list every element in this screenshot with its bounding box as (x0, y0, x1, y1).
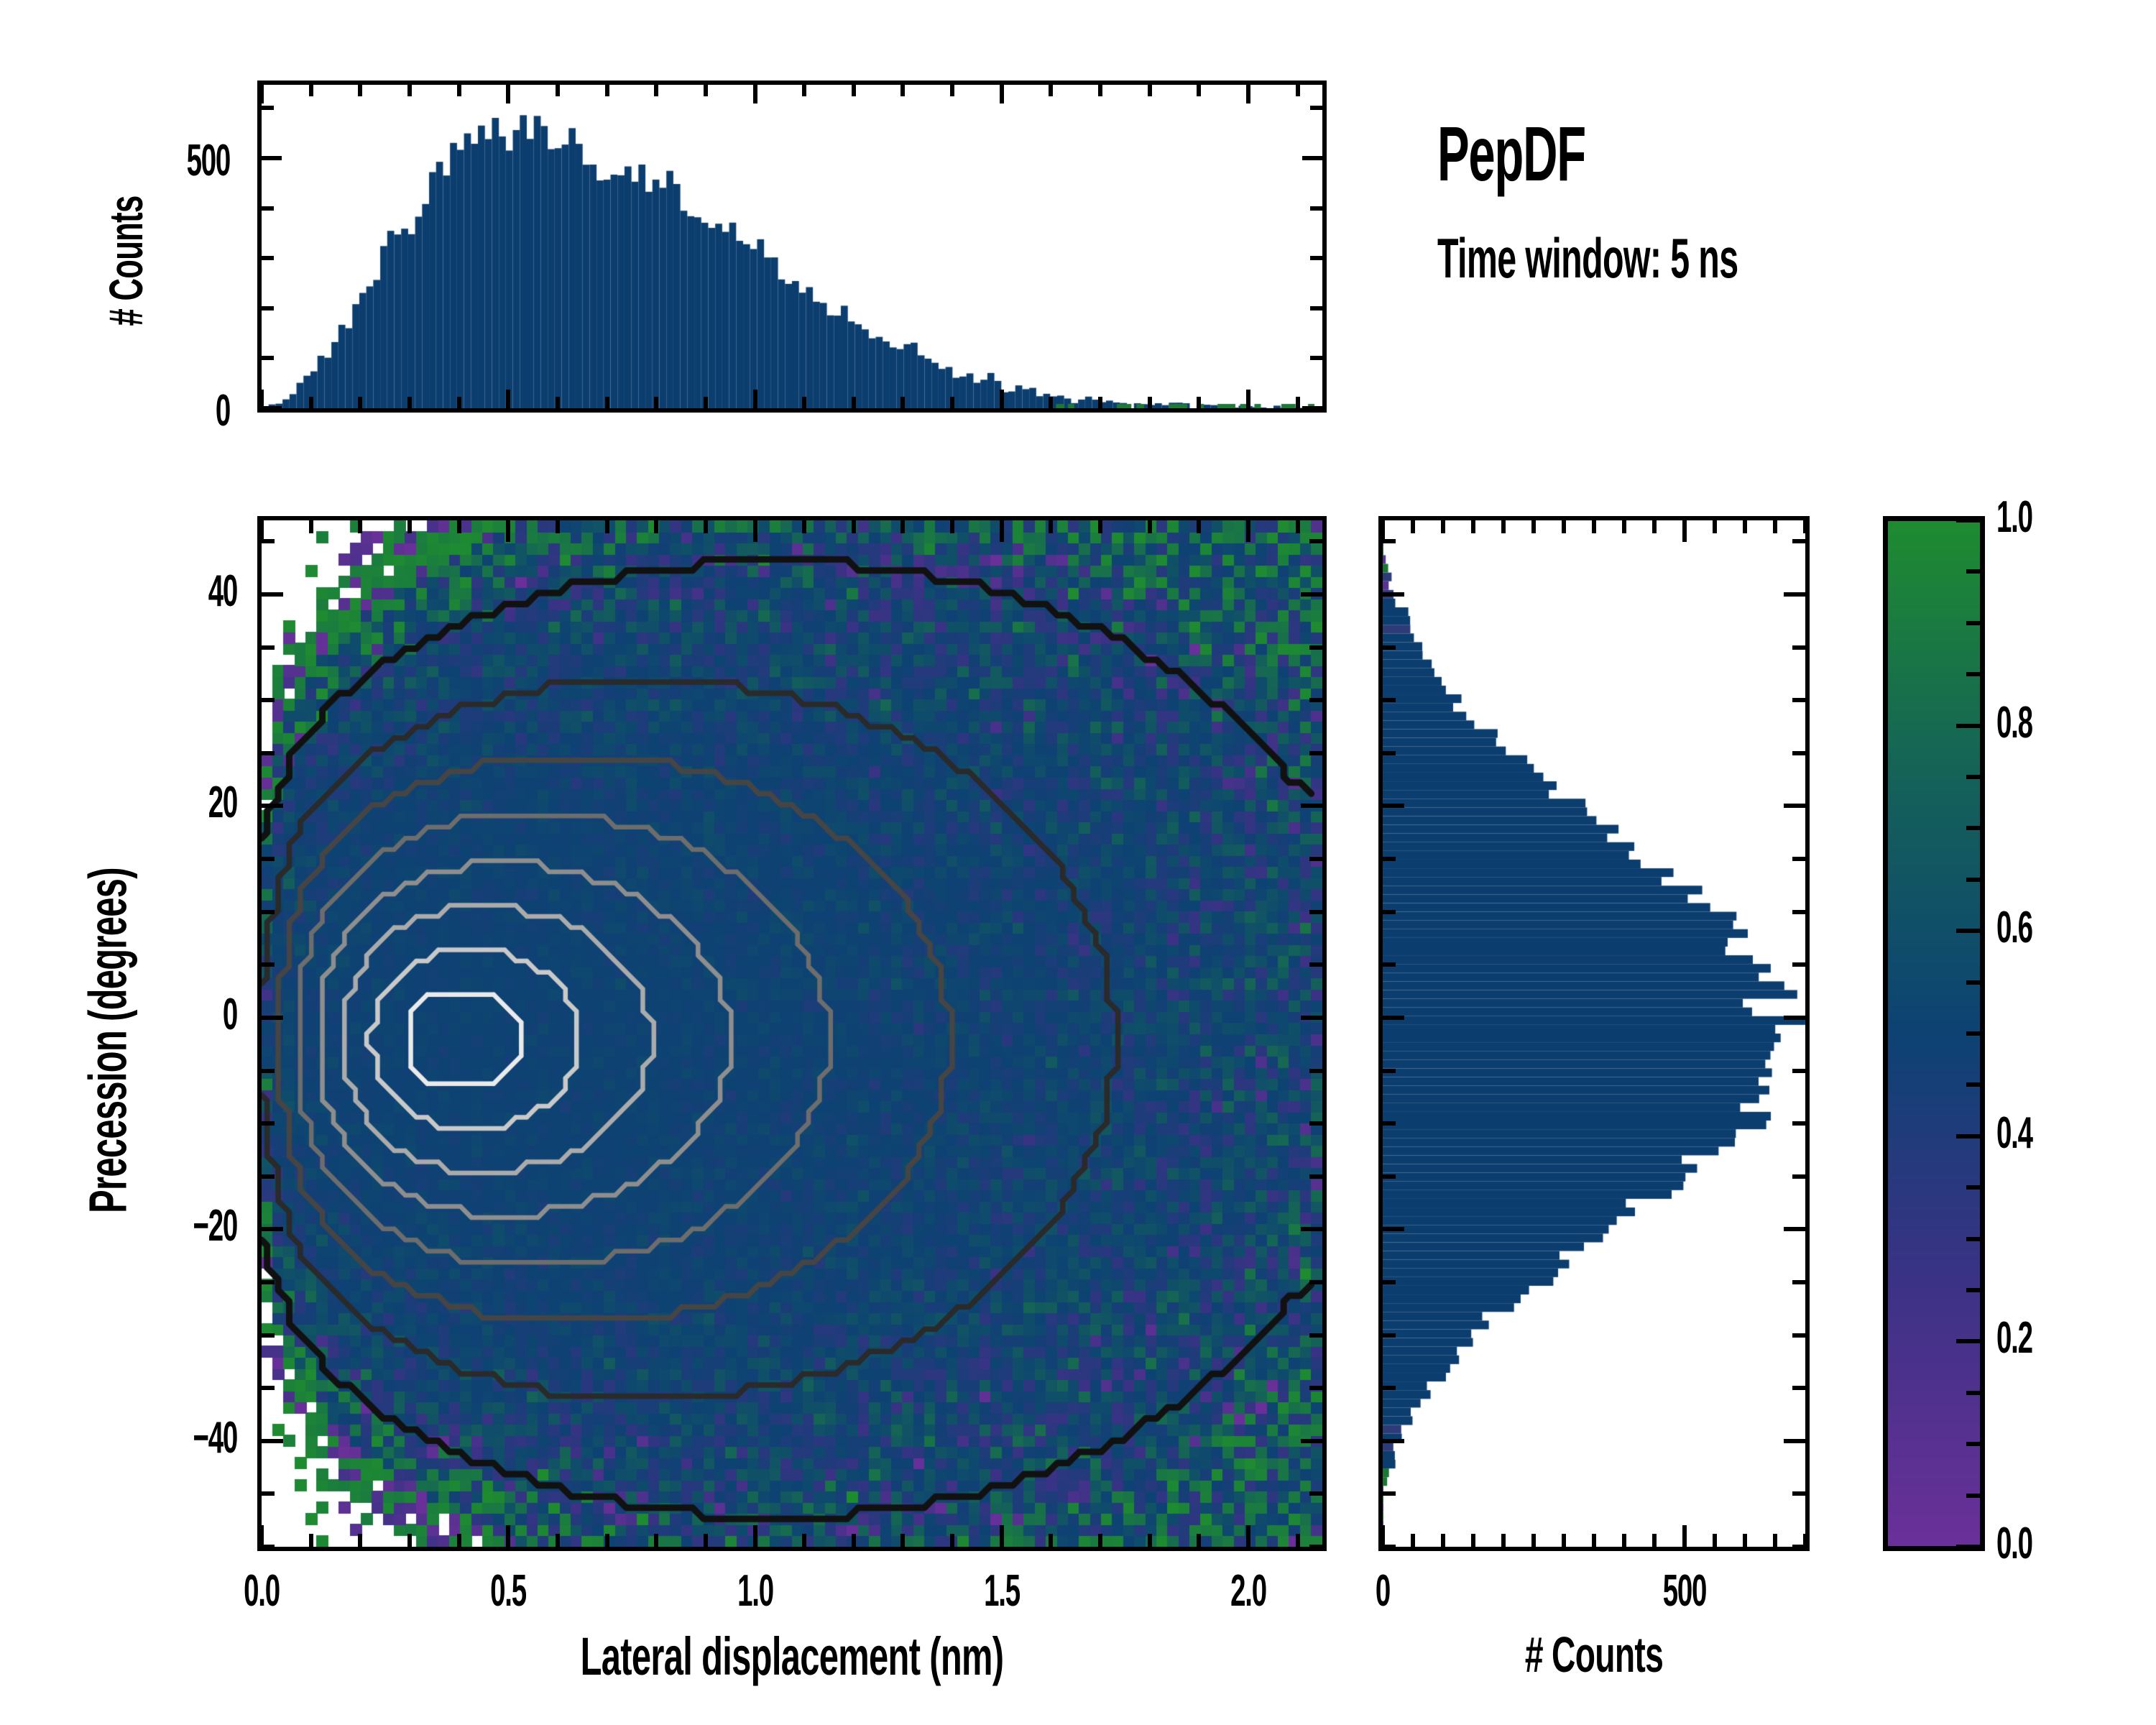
main-xtick (407, 520, 412, 533)
main-xtick (1000, 1525, 1004, 1547)
main-ytick (1309, 698, 1322, 702)
main-xtick (457, 1534, 461, 1547)
top-hist-xtick (1148, 85, 1152, 96)
main-ylabel: Precession (degrees) (78, 699, 139, 1381)
right-hist-ytick (1383, 1016, 1404, 1020)
main-xtick (704, 520, 708, 533)
main-xtick (753, 1525, 757, 1547)
right-hist-ytick (1383, 1491, 1396, 1496)
top-hist-ytick (1310, 356, 1322, 360)
main-ytick-label: 40 (90, 566, 237, 617)
right-histogram-plot (1383, 520, 1805, 1547)
top-hist-xtick (1197, 397, 1201, 408)
main-xtick (654, 1534, 658, 1547)
main-xtick (1296, 520, 1300, 533)
right-hist-ytick (1784, 804, 1805, 808)
top-hist-xtick (457, 85, 461, 96)
top-hist-ytick (262, 356, 274, 360)
right-hist-ytick (1792, 910, 1805, 914)
main-xtick-label: 1.0 (711, 1565, 800, 1616)
top-hist-xtick (556, 397, 560, 408)
top-hist-xtick (900, 85, 905, 96)
top-hist-xtick (506, 390, 510, 408)
main-ytick (262, 592, 283, 597)
top-hist-ytick (262, 156, 282, 160)
main-ytick (1301, 592, 1322, 597)
main-xtick (1098, 1534, 1102, 1547)
right-hist-ytick (1383, 1174, 1396, 1179)
right-hist-xtick (1441, 520, 1445, 533)
top-hist-xtick (1148, 397, 1152, 408)
colorbar-tick-label: 0.8 (1996, 697, 2104, 748)
right-hist-xtick (1501, 520, 1506, 533)
main-xtick-label: 0.5 (464, 1565, 553, 1616)
colorbar-tick (1966, 775, 1981, 779)
main-xtick (900, 520, 905, 533)
main-xtick (900, 1534, 905, 1547)
main-xtick-label: 2.0 (1204, 1565, 1293, 1616)
right-hist-xtick (1743, 520, 1747, 533)
top-hist-xtick (654, 85, 658, 96)
main-xtick (309, 520, 313, 533)
right-hist-ytick (1383, 645, 1396, 650)
top-hist-xtick (704, 85, 708, 96)
right-hist-ytick (1383, 1545, 1396, 1549)
main-xtick (1197, 1534, 1201, 1547)
colorbar-tick (1966, 878, 1981, 882)
right-hist-ytick (1383, 910, 1396, 914)
right-hist-xtick (1773, 520, 1777, 533)
colorbar-tick (1956, 724, 1981, 728)
main-xtick (1000, 520, 1004, 542)
colorbar-tick (1966, 980, 1981, 985)
top-hist-xtick (1197, 85, 1201, 96)
main-xtick (950, 1534, 954, 1547)
right-hist-ytick (1792, 645, 1805, 650)
right-hist-ytick (1792, 698, 1805, 702)
main-ytick (1309, 1121, 1322, 1126)
main-ytick (1301, 1439, 1322, 1443)
colorbar-tick (1966, 672, 1981, 676)
right-hist-ytick (1383, 1439, 1404, 1443)
main-xtick-label: 1.5 (957, 1565, 1046, 1616)
right-hist-xtick (1652, 520, 1657, 533)
right-hist-ytick (1383, 1227, 1404, 1231)
main-ytick (1309, 1333, 1322, 1338)
colorbar-tick (1966, 569, 1981, 574)
colorbar-tick-label: 1.0 (1996, 492, 2104, 543)
top-hist-xtick (1049, 85, 1053, 96)
main-ytick (262, 1069, 275, 1073)
main-ytick (262, 804, 283, 808)
right-hist-xtick (1471, 1534, 1475, 1547)
colorbar-tick (1956, 518, 1981, 523)
main-ytick (262, 1545, 275, 1549)
colorbar-tick (1966, 1185, 1981, 1190)
colorbar-tick (1956, 1545, 1981, 1549)
right-hist-ytick (1792, 1280, 1805, 1284)
main-ytick (1301, 1227, 1322, 1231)
top-hist-xtick (1246, 85, 1250, 103)
main-ytick (1309, 539, 1322, 543)
right-hist-ytick (1792, 857, 1805, 861)
main-xtick-label: 0.0 (217, 1565, 306, 1616)
right-hist-xtick (1441, 1534, 1445, 1547)
right-hist-xtick (1531, 1534, 1536, 1547)
right-hist-xtick (1471, 520, 1475, 533)
main-xtick (309, 1534, 313, 1547)
main-xtick (1148, 1534, 1152, 1547)
main-ytick (262, 539, 275, 543)
top-hist-xtick (802, 397, 806, 408)
main-xlabel: Lateral displacement (nm) (439, 1626, 1145, 1687)
top-hist-ytick (1310, 256, 1322, 260)
right-hist-xtick (1411, 520, 1415, 533)
top-hist-xtick (1098, 397, 1102, 408)
colorbar-tick (1966, 1288, 1981, 1292)
main-ytick (262, 1491, 275, 1496)
main-xtick (1197, 520, 1201, 533)
main-ytick (1301, 1016, 1322, 1020)
top-hist-ytick (1302, 156, 1322, 160)
right-hist-ytick (1792, 1174, 1805, 1179)
right-hist-ytick (1784, 1439, 1805, 1443)
right-hist-ytick (1792, 1545, 1805, 1549)
main-ytick (262, 645, 275, 650)
main-xtick (1246, 1525, 1250, 1547)
top-hist-ytick-0: 0 (194, 385, 230, 436)
main-xtick (654, 520, 658, 533)
right-hist-xtick (1622, 1534, 1626, 1547)
main-xtick (358, 520, 362, 533)
right-hist-ytick (1792, 1333, 1805, 1338)
main-xtick (605, 520, 609, 533)
right-hist-ytick (1383, 751, 1396, 755)
top-hist-ytick (1302, 406, 1322, 410)
top-hist-ytick (1310, 306, 1322, 310)
right-hist-ytick (1383, 857, 1396, 861)
main-ytick (1301, 804, 1322, 808)
colorbar-tick-label: 0.4 (1996, 1108, 2104, 1159)
main-xtick (259, 1525, 264, 1547)
main-ytick (1309, 857, 1322, 861)
right-hist-xtick (1592, 520, 1596, 533)
main-ytick (262, 1227, 283, 1231)
main-ytick (1309, 1069, 1322, 1073)
top-hist-xtick (802, 85, 806, 96)
right-hist-xtick (1713, 1534, 1717, 1547)
right-hist-ytick (1792, 1069, 1805, 1073)
right-hist-xtick-label: 500 (1640, 1565, 1729, 1616)
right-hist-xtick (1803, 520, 1807, 533)
main-xtick (852, 520, 856, 533)
right-hist-ytick (1383, 804, 1404, 808)
top-hist-xtick (654, 397, 658, 408)
top-hist-xtick (704, 397, 708, 408)
colorbar-tick-label: 0.2 (1996, 1312, 2104, 1363)
right-hist-xtick (1592, 1534, 1596, 1547)
main-ytick (262, 1439, 283, 1443)
main-xtick (704, 1534, 708, 1547)
top-hist-xtick (309, 85, 313, 96)
colorbar-tick (1956, 1134, 1981, 1138)
main-ytick (262, 1121, 275, 1126)
top-hist-xtick (358, 85, 362, 96)
colorbar-tick (1966, 1442, 1981, 1446)
colorbar-tick (1966, 1391, 1981, 1395)
right-hist-ytick (1383, 1386, 1396, 1390)
right-hist-xtick (1622, 520, 1626, 533)
top-hist-xtick (1296, 85, 1300, 96)
colorbar-tick-label: 0.6 (1996, 902, 2104, 953)
main-xtick (1246, 520, 1250, 542)
top-hist-xtick (950, 397, 954, 408)
right-hist-xtick (1652, 1534, 1657, 1547)
main-xtick (1049, 520, 1053, 533)
main-xtick (852, 1534, 856, 1547)
right-hist-ytick (1784, 1227, 1805, 1231)
top-hist-xtick (1246, 390, 1250, 408)
top-hist-xtick (1049, 397, 1053, 408)
right-hist-ytick (1792, 962, 1805, 967)
main-xtick (556, 1534, 560, 1547)
top-hist-xtick (1098, 85, 1102, 96)
heatmap-canvas (262, 520, 1322, 1547)
page-title: PepDF (1437, 115, 1738, 193)
main-ytick (262, 962, 275, 967)
right-hist-xtick (1531, 520, 1536, 533)
top-hist-xtick (309, 397, 313, 408)
right-hist-ytick (1383, 1069, 1396, 1073)
main-ytick-label: −40 (90, 1412, 237, 1463)
right-hist-ytick (1792, 1386, 1805, 1390)
main-ytick (1309, 1491, 1322, 1496)
main-ytick (262, 910, 275, 914)
right-hist-xtick (1682, 1525, 1687, 1547)
top-hist-xtick (407, 397, 412, 408)
right-hist-xtick (1381, 1525, 1385, 1547)
top-hist-xtick (407, 85, 412, 96)
main-xtick (950, 520, 954, 533)
top-hist-ytick (262, 406, 282, 410)
top-hist-xtick (753, 85, 757, 103)
top-hist-ytick (262, 206, 274, 211)
right-hist-xtick (1773, 1534, 1777, 1547)
colorbar-tick (1956, 929, 1981, 933)
top-hist-ytick (1310, 106, 1322, 110)
right-hist-ytick (1792, 539, 1805, 543)
top-hist-xtick (358, 397, 362, 408)
main-xtick (605, 1534, 609, 1547)
colorbar-tick-label: 0.0 (1996, 1518, 2104, 1569)
top-hist-ylabel: # Counts (98, 152, 153, 370)
top-hist-xtick (259, 85, 264, 103)
top-hist-xtick (457, 397, 461, 408)
right-hist-ytick (1383, 592, 1404, 597)
top-hist-ytick (262, 306, 274, 310)
right-hist-ytick (1792, 1121, 1805, 1126)
top-hist-xtick (605, 397, 609, 408)
colorbar-tick (1966, 621, 1981, 625)
right-hist-xtick (1562, 520, 1566, 533)
right-hist-ytick (1784, 592, 1805, 597)
right-hist-xtick (1743, 1534, 1747, 1547)
main-xtick (753, 520, 757, 542)
top-hist-xtick (506, 85, 510, 103)
top-hist-xtick (950, 85, 954, 96)
right-hist-ytick (1383, 698, 1396, 702)
main-xtick (407, 1534, 412, 1547)
top-hist-xtick (1000, 85, 1004, 103)
main-ytick (1309, 1386, 1322, 1390)
right-hist-xlabel: # Counts (1452, 1626, 1736, 1683)
colorbar-tick (1966, 1082, 1981, 1087)
main-xtick (556, 520, 560, 533)
right-hist-ytick (1383, 1333, 1396, 1338)
main-xtick (802, 1534, 806, 1547)
right-hist-xtick (1713, 520, 1717, 533)
right-hist-xtick (1562, 1534, 1566, 1547)
main-ytick (262, 1280, 275, 1284)
right-hist-ytick (1792, 751, 1805, 755)
main-ytick (1309, 1545, 1322, 1549)
top-hist-xtick (900, 397, 905, 408)
right-hist-xtick-label: 0 (1338, 1565, 1427, 1616)
right-hist-xtick (1682, 520, 1687, 542)
top-hist-xtick (1000, 390, 1004, 408)
main-ytick (1309, 910, 1322, 914)
top-hist-ytick (1310, 206, 1322, 211)
main-ytick (262, 1016, 283, 1020)
plot-subtitle: Time window: 5 ns (1437, 230, 1738, 286)
main-heatmap-panel (257, 516, 1327, 1551)
main-ytick (1309, 1174, 1322, 1179)
right-hist-ytick (1383, 1121, 1396, 1126)
right-hist-ytick (1792, 1491, 1805, 1496)
main-ytick (262, 857, 275, 861)
top-hist-xtick (1296, 397, 1300, 408)
top-hist-xtick (605, 85, 609, 96)
top-hist-xtick (556, 85, 560, 96)
main-xtick (506, 520, 510, 542)
colorbar-tick (1966, 826, 1981, 830)
top-hist-ytick (262, 106, 274, 110)
main-ytick (1309, 751, 1322, 755)
title-block: PepDF Time window: 5 ns (1437, 115, 1922, 286)
main-xtick (1098, 520, 1102, 533)
right-hist-ytick (1383, 962, 1396, 967)
main-xtick (457, 520, 461, 533)
top-hist-xtick (852, 397, 856, 408)
top-hist-ytick-500: 500 (141, 135, 230, 186)
main-ytick (1309, 645, 1322, 650)
top-hist-ytick (262, 256, 274, 260)
top-histogram-plot (262, 85, 1322, 408)
main-ytick (1309, 962, 1322, 967)
main-ytick (262, 1333, 275, 1338)
main-xtick (506, 1525, 510, 1547)
right-hist-ytick (1383, 539, 1396, 543)
right-hist-ytick (1383, 1280, 1396, 1284)
right-hist-ytick (1784, 1016, 1805, 1020)
right-hist-xtick (1501, 1534, 1506, 1547)
main-ytick (262, 1174, 275, 1179)
right-histogram-panel (1378, 516, 1810, 1551)
colorbar-tick (1966, 1031, 1981, 1036)
main-xtick (1148, 520, 1152, 533)
top-hist-xtick (852, 85, 856, 96)
colorbar-tick (1956, 1339, 1981, 1343)
top-histogram-panel (257, 80, 1327, 413)
main-ytick (262, 1386, 275, 1390)
main-xtick (358, 1534, 362, 1547)
right-hist-xtick (1411, 1534, 1415, 1547)
main-xtick (1296, 1534, 1300, 1547)
colorbar-tick (1966, 1494, 1981, 1498)
main-ytick (262, 698, 275, 702)
main-ytick (1309, 1280, 1322, 1284)
main-ytick (262, 751, 275, 755)
colorbar-tick (1966, 1237, 1981, 1241)
main-xtick (802, 520, 806, 533)
top-hist-xtick (753, 390, 757, 408)
main-xtick (1049, 1534, 1053, 1547)
